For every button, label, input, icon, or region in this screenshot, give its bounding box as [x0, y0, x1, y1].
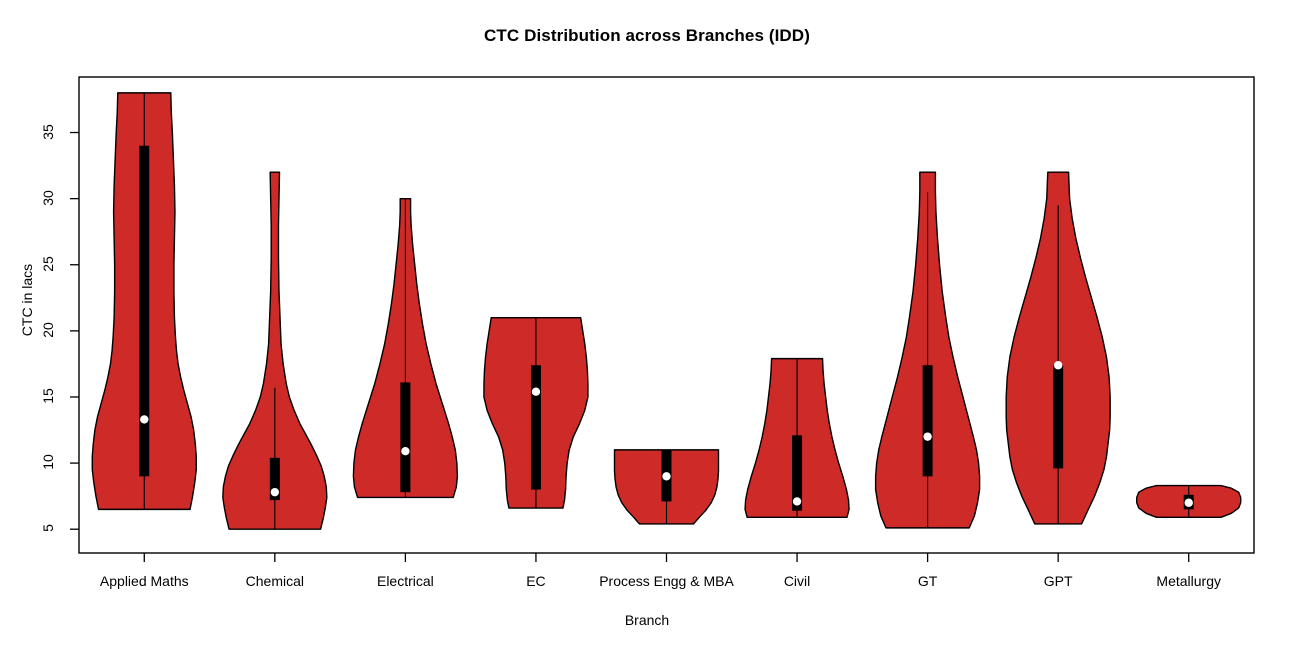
median-marker: [140, 415, 148, 423]
x-axis-tick-label: Chemical: [246, 573, 304, 589]
median-marker: [1185, 499, 1193, 507]
x-axis-tick-label: GPT: [1044, 573, 1073, 589]
median-marker: [793, 497, 801, 505]
violin-gt: [876, 172, 980, 528]
x-axis-tick-label: Metallurgy: [1156, 573, 1221, 589]
y-axis-tick-label: 30: [40, 178, 56, 218]
median-marker: [923, 432, 931, 440]
iqr-box: [923, 365, 933, 476]
x-axis-tick-label: Electrical: [377, 573, 434, 589]
iqr-box: [1053, 365, 1063, 468]
x-axis-tick-label: EC: [526, 573, 545, 589]
median-marker: [401, 447, 409, 455]
x-axis-tick-label: Process Engg & MBA: [599, 573, 734, 589]
x-axis-tick-label: Applied Maths: [100, 573, 189, 589]
median-marker: [271, 488, 279, 496]
y-axis-tick-label: 20: [40, 310, 56, 350]
plot-canvas: [0, 0, 1294, 653]
x-axis-tick-label: GT: [918, 573, 937, 589]
violin-ec: [484, 318, 588, 508]
median-marker: [532, 387, 540, 395]
median-marker: [662, 472, 670, 480]
y-axis-tick-label: 5: [40, 508, 56, 548]
violin-applied-maths: [92, 93, 196, 510]
violin-metallurgy: [1137, 486, 1241, 518]
violin-gpt: [1006, 172, 1110, 524]
median-marker: [1054, 361, 1062, 369]
violin-civil: [745, 359, 849, 518]
y-axis-tick-label: 15: [40, 376, 56, 416]
iqr-box: [531, 365, 541, 489]
violin-chemical: [223, 172, 327, 529]
iqr-box: [400, 382, 410, 492]
y-axis-tick-label: 25: [40, 244, 56, 284]
iqr-box: [139, 146, 149, 477]
violin-electrical: [353, 199, 457, 498]
violin-plot-figure: CTC Distribution across Branches (IDD) C…: [0, 0, 1294, 653]
y-axis-tick-label: 10: [40, 442, 56, 482]
x-axis-tick-label: Civil: [784, 573, 810, 589]
y-axis-tick-label: 35: [40, 112, 56, 152]
violin-process-engg-mba: [615, 450, 719, 524]
violins-layer: [92, 93, 1240, 529]
